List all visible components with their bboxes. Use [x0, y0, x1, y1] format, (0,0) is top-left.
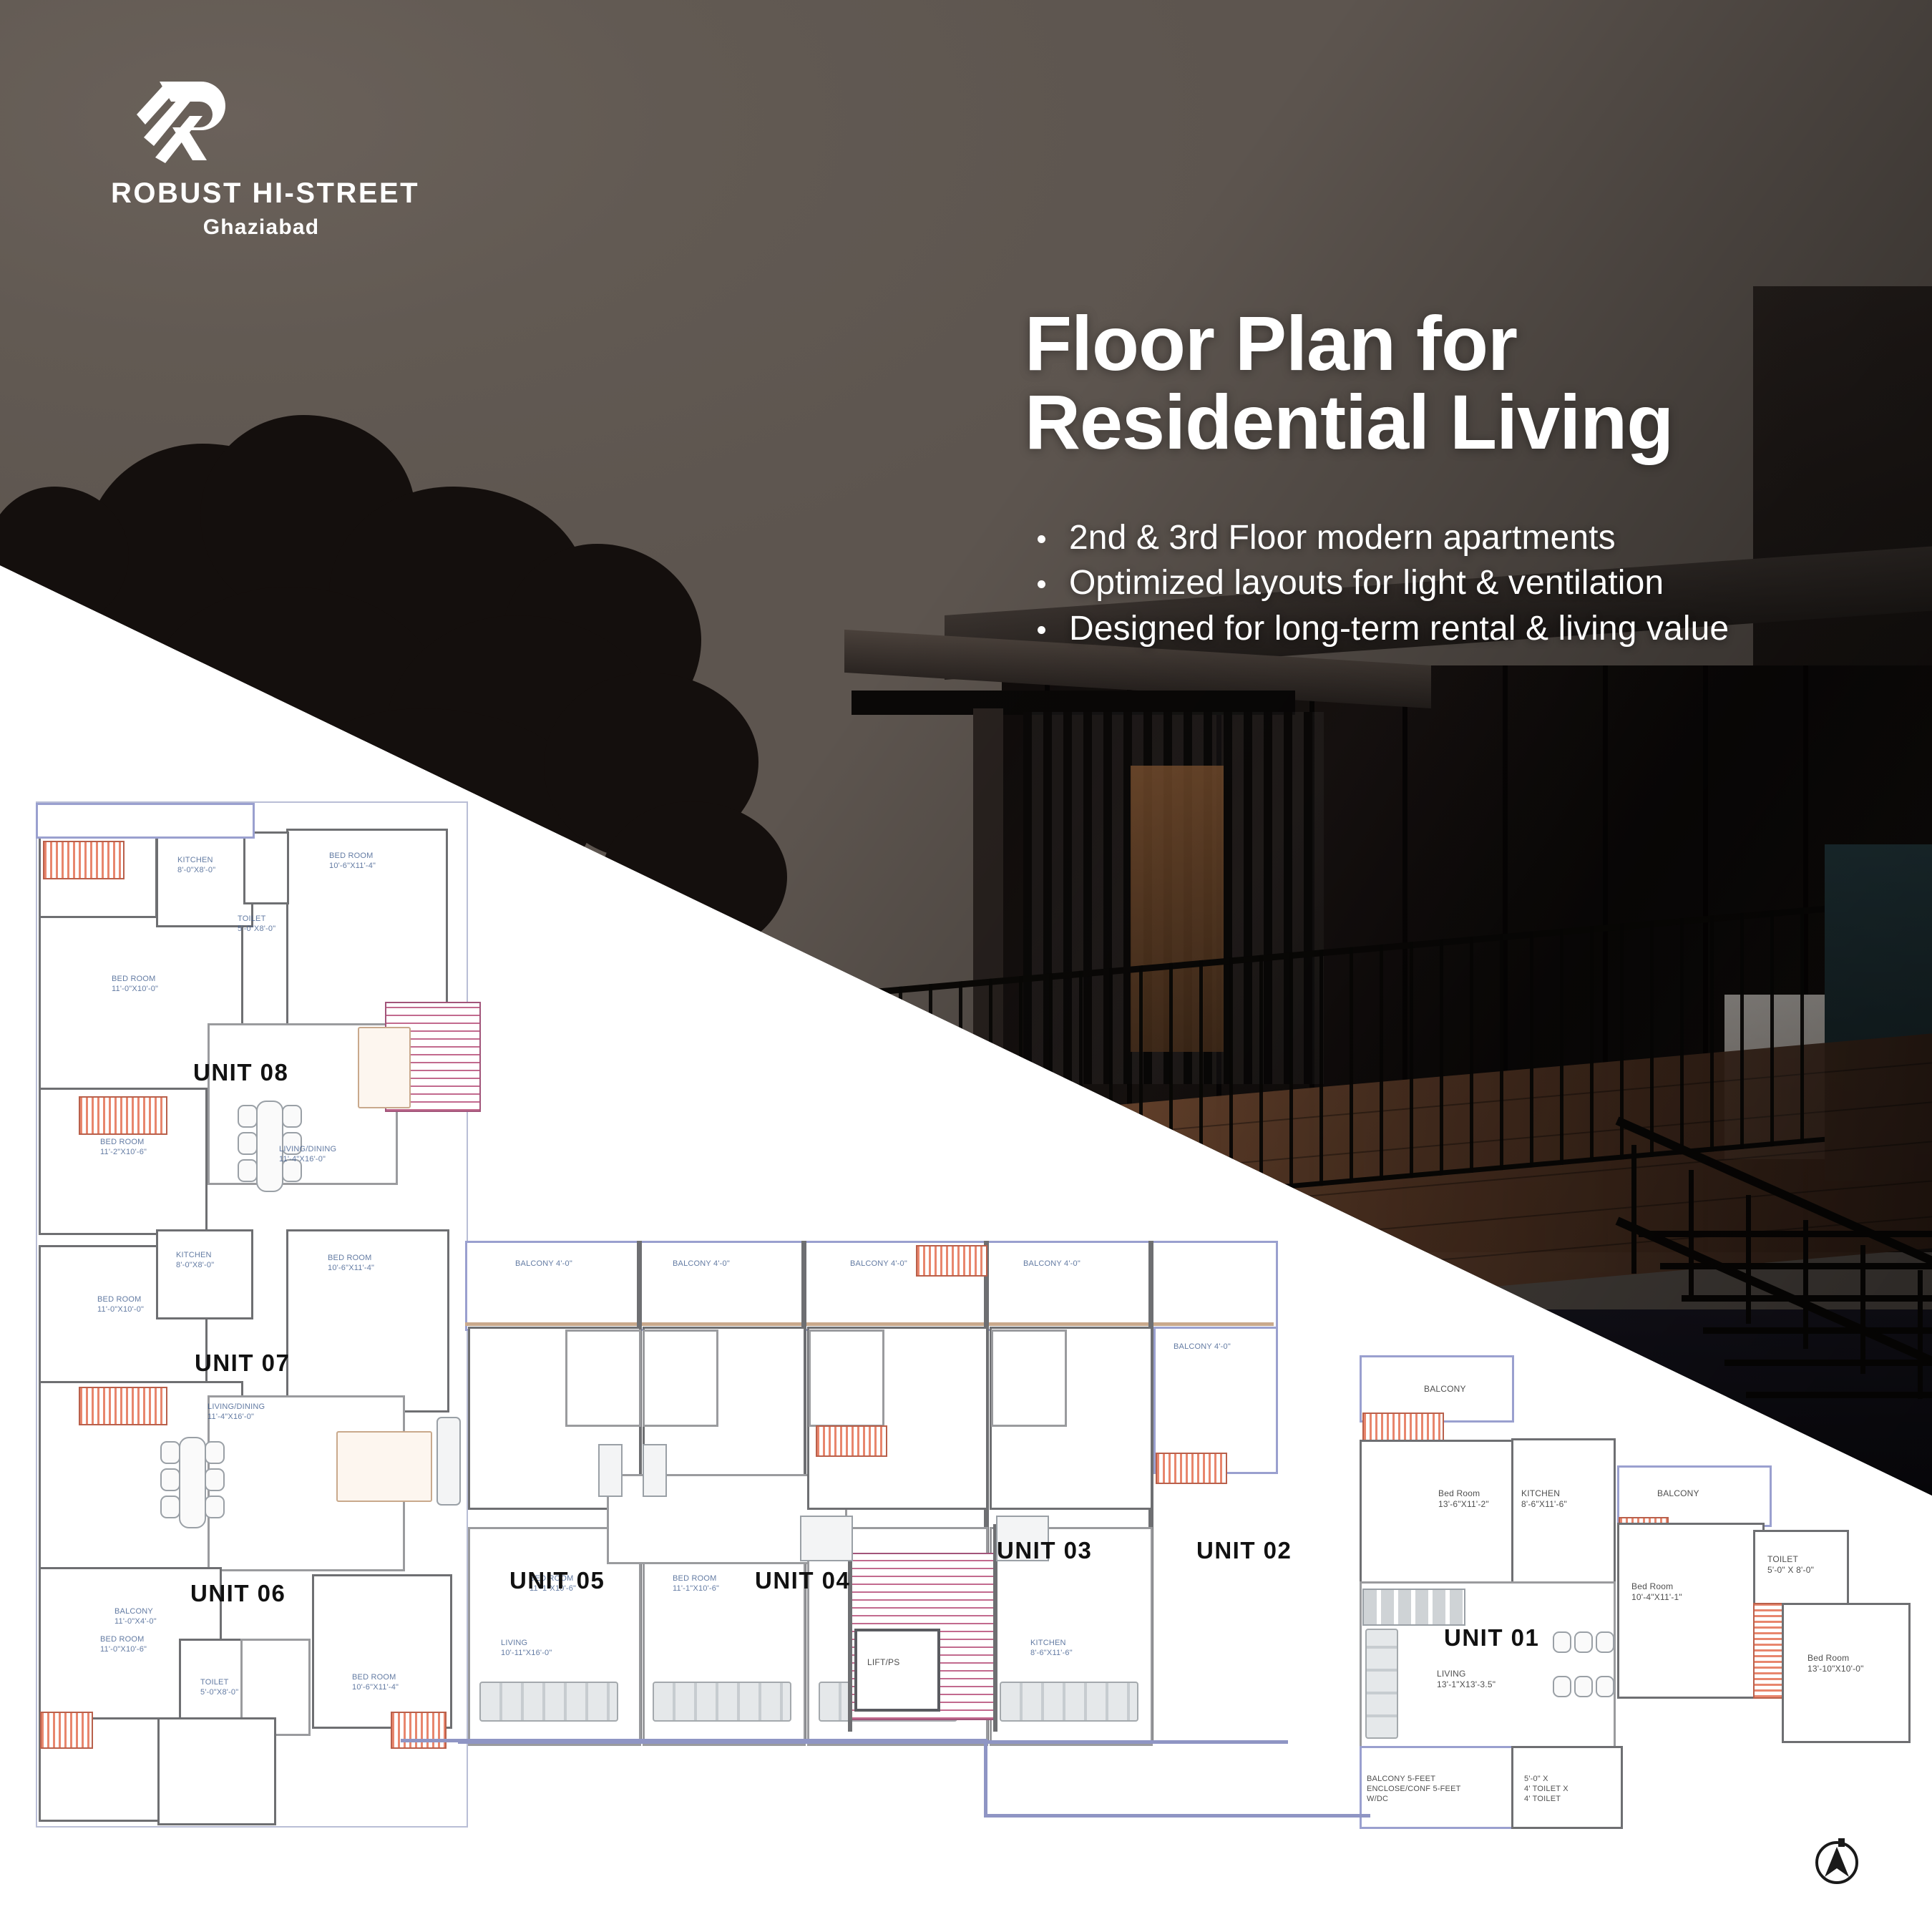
unit06-hatch-right [391, 1712, 447, 1749]
unit01-sofa [1365, 1629, 1398, 1739]
bullet-item-2: Optimized layouts for light & ventilatio… [1025, 560, 1869, 605]
unit05-label-living: LIVING10'-11"X16'-0" [501, 1639, 552, 1659]
unit08-label-livdin: LIVING/DINING11'-4"X16'-0" [279, 1145, 336, 1165]
unit03-label-balcony: BALCONY 4'-0" [850, 1259, 907, 1269]
unit07-label-bedroom: BED ROOM10'-6"X11'-4" [328, 1254, 374, 1274]
unit04-toilet [643, 1330, 718, 1427]
bullet-item-1: 2nd & 3rd Floor modern apartments [1025, 515, 1869, 560]
unit-04-label-display: UNIT 04 [755, 1567, 850, 1594]
unit07-kitchen [156, 1229, 253, 1319]
unit08-kitchen [156, 830, 253, 927]
unit01-bedroom-2 [1617, 1523, 1765, 1699]
unit01-label-toilet: TOILET5'-0" X 8'-0" [1767, 1554, 1814, 1576]
unit01-label-balcony-mid: BALCONY [1657, 1488, 1699, 1499]
unit07-dining-set [159, 1431, 223, 1531]
unit-06-label: UNIT 06 [190, 1580, 286, 1607]
core-entry-bench-left [800, 1516, 853, 1561]
unit08-bed-furniture [358, 1027, 411, 1108]
unit06-entry [157, 1717, 276, 1825]
unit08-label-bedroom: BED ROOM10'-6"X11'-4" [329, 852, 376, 872]
unit07-label-kitchen: KITCHEN8'-0"X8'-0" [176, 1251, 214, 1271]
unit01-dining-set [1553, 1631, 1613, 1710]
unit08-balcony [36, 803, 255, 839]
unit06-label-bedroom-a: BED ROOM11'-0"X10'-6" [100, 1635, 147, 1655]
poster-page: ROBUST HI-STREET Ghaziabad Floor Plan fo… [0, 0, 1932, 1932]
title-line-1: Floor Plan for [1025, 304, 1848, 383]
unit02-sofa [1000, 1682, 1138, 1722]
unit-05-label-display: UNIT 05 [509, 1567, 605, 1594]
brand-logo[interactable]: ROBUST HI-STREET Ghaziabad [111, 72, 411, 240]
unit01-bedroom-1 [1360, 1440, 1514, 1587]
unit03-hatch-mid [816, 1425, 887, 1457]
unit01-kitchen-counter [1362, 1589, 1465, 1626]
unit01-label-living: LIVING13'-1"X13'-3.5" [1437, 1669, 1496, 1690]
center-balcony-band [465, 1241, 1278, 1331]
unit01-label-kitchen: KITCHEN8'-6"X11'-6" [1521, 1488, 1567, 1510]
unit07-bed-furniture [336, 1431, 432, 1502]
unit05-wardrobe [598, 1444, 623, 1497]
unit03-toilet [809, 1330, 884, 1427]
unit08-label-bedroom-c: BED ROOM11'-2"X10'-6" [100, 1138, 147, 1158]
unit08-toilet [243, 831, 289, 904]
unit08-label-kitchen: KITCHEN8'-0"X8'-0" [177, 856, 215, 876]
unit-02-label-display: UNIT 02 [1196, 1537, 1292, 1564]
brand-city: Ghaziabad [111, 215, 411, 240]
unit08-balcony-hatch [43, 841, 125, 879]
unit06-label-bedroom-b: BED ROOM10'-6"X11'-4" [352, 1673, 399, 1693]
unit01-label-bedroom-3: Bed Room13'-10"X10'-0" [1807, 1653, 1864, 1674]
unit01-label-balcony-top: BALCONY [1424, 1384, 1466, 1395]
page-title: Floor Plan for Residential Living [1025, 304, 1848, 462]
bullet-item-3: Designed for long-term rental & living v… [1025, 606, 1869, 651]
unit01-kitchen [1511, 1438, 1616, 1593]
unit08-hatch-b [79, 1096, 167, 1135]
unit04-label-bedroom: BED ROOM11'-1"X10'-6" [673, 1574, 719, 1594]
unit02-label-kitchen: KITCHEN8'-6"X11'-6" [1030, 1639, 1073, 1659]
unit-07-label: UNIT 07 [195, 1350, 290, 1377]
unit05-label-balcony: BALCONY 4'-0" [515, 1259, 572, 1269]
unit06-label-toilet: TOILET5'-0"X8'-0" [200, 1678, 238, 1698]
unit07-label-livdin: LIVING/DINING11'-4"X16'-0" [208, 1402, 265, 1423]
robust-r-monogram-icon [132, 72, 240, 172]
core-lift-shaft [854, 1629, 940, 1712]
north-arrow-compass-icon [1810, 1835, 1863, 1888]
unit01-label-bedroom-2: Bed Room10'-4"X11'-1" [1631, 1581, 1682, 1603]
center-right-balcony-label: BALCONY 4'-0" [1174, 1342, 1231, 1352]
unit01-label-bedroom-1: Bed Room13'-6"X11'-2" [1438, 1488, 1489, 1510]
unit01-note-left: BALCONY 5-FEETENCLOSE/CONF 5-FEETW/DC [1367, 1775, 1461, 1804]
floor-plan-drawing[interactable]: KITCHEN8'-0"X8'-0" BED ROOM10'-6"X11'-4"… [0, 787, 1932, 1932]
unit07-hatch [79, 1387, 167, 1425]
plan-bottom-boundary [401, 1739, 987, 1742]
unit07-wardrobe [436, 1417, 461, 1506]
unit02-toilet [991, 1330, 1067, 1427]
core-lift-label: LIFT/PS [867, 1657, 899, 1668]
unit-01-label: UNIT 01 [1444, 1624, 1539, 1652]
unit06-bedroom-b [312, 1574, 452, 1729]
unit04-wardrobe [643, 1444, 667, 1497]
unit07-label-bedroom-a: BED ROOM11'-0"X10'-0" [97, 1295, 144, 1315]
plan-bottom-boundary-3 [984, 1814, 1370, 1818]
unit02-hatch [1156, 1453, 1227, 1484]
canopy-fascia [852, 691, 1295, 715]
unit-block-left: KITCHEN8'-0"X8'-0" BED ROOM10'-6"X11'-4"… [29, 787, 515, 1846]
unit08-label-living: BED ROOM11'-0"X10'-0" [112, 975, 158, 995]
title-line-2: Residential Living [1025, 383, 1848, 462]
unit06-label-balcony: BALCONY11'-0"X4'-0" [114, 1607, 157, 1627]
unit05-sofa [479, 1682, 618, 1722]
brand-name: ROBUST HI-STREET [111, 177, 411, 210]
unit-block-right: BALCONY Bed Room13'-6"X11'-2" KITCHEN8'-… [1352, 1345, 1911, 1846]
unit04-label-balcony: BALCONY 4'-0" [673, 1259, 730, 1269]
plan-bottom-boundary-2 [984, 1739, 987, 1818]
unit04-sofa [653, 1682, 791, 1722]
unit-03-label-display: UNIT 03 [997, 1537, 1092, 1564]
tree-silhouette [0, 401, 801, 801]
feature-bullet-list: 2nd & 3rd Floor modern apartments Optimi… [1025, 515, 1869, 651]
unit05-toilet [565, 1330, 641, 1427]
unit08-label-toilet: TOILET5'-0"X8'-0" [238, 914, 275, 935]
unit03-hatch-top [916, 1245, 987, 1277]
unit01-note-mid: 5'-0" X4' TOILET X4' TOILET [1524, 1775, 1568, 1804]
unit-08-label: UNIT 08 [193, 1059, 288, 1086]
unit06-hatch-left [40, 1712, 93, 1749]
unit02-label-balcony: BALCONY 4'-0" [1023, 1259, 1080, 1269]
